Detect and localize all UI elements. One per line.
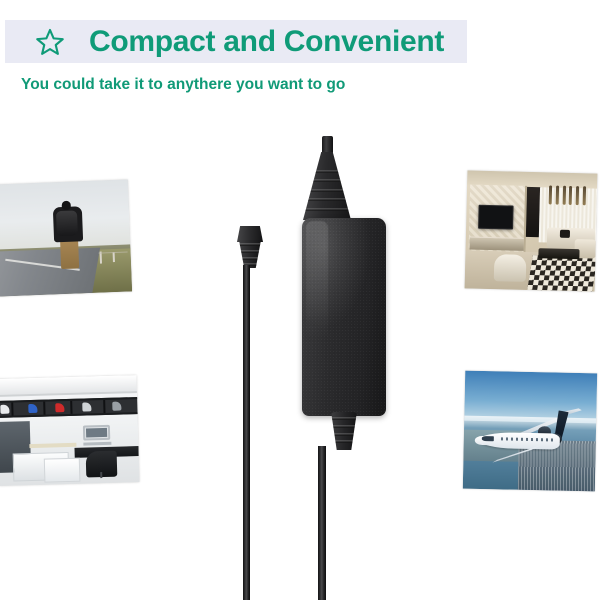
dc-output-plug-tip: [237, 226, 263, 242]
photo-bottom-left-scene: [0, 375, 139, 486]
photo-bottom-left: [0, 375, 139, 486]
product-feature-slide: Compact and Convenient You could take it…: [0, 0, 600, 600]
page-subtitle: You could take it to anythere you want t…: [21, 76, 345, 94]
chandelier-icon: [547, 185, 589, 205]
coffee-table: [538, 248, 580, 260]
throw-pillow: [559, 229, 570, 238]
wall-mounted-tv: [478, 205, 514, 229]
photo-bottom-right-scene: [463, 371, 597, 492]
dc-plug-strain-relief: [238, 240, 262, 268]
photo-top-left-scene: [0, 179, 132, 296]
header-banner: Compact and Convenient: [5, 20, 467, 63]
cockpit-window: [482, 436, 494, 441]
checkered-rug: [527, 255, 597, 292]
star-outline-icon: [35, 27, 65, 57]
brick-highlight: [306, 221, 328, 407]
page-title: Compact and Convenient: [89, 27, 444, 57]
office-chair: [85, 451, 117, 478]
dc-output-strain-relief: [330, 412, 358, 450]
counter-unit: [44, 458, 81, 483]
photo-top-right: [465, 170, 598, 291]
road-surface: [0, 248, 100, 297]
photo-bottom-right: [463, 371, 597, 492]
hiker-backpack: [56, 211, 78, 236]
dc-output-cable: [318, 446, 326, 600]
armchair: [493, 254, 526, 282]
hiker-head: [62, 201, 72, 210]
tv-credenza: [469, 237, 524, 251]
ac-input-strain-relief: [303, 152, 351, 220]
photo-top-left: [0, 179, 132, 296]
photo-top-right-scene: [465, 170, 598, 291]
dc-plug-cable: [243, 265, 250, 600]
adapter-brick: [302, 218, 386, 416]
computer-monitor: [83, 425, 110, 441]
